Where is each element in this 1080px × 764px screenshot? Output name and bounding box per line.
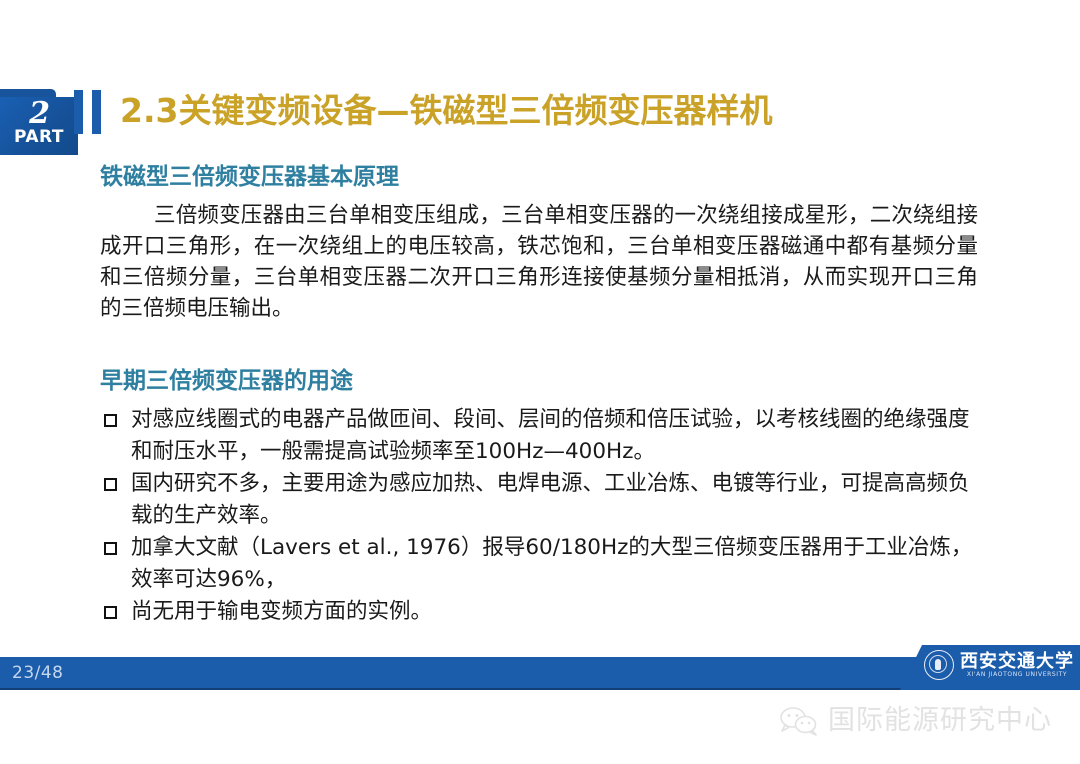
page-title: 2.3关键变频设备—铁磁型三倍频变压器样机 [120,86,772,136]
list-item: 国内研究不多，主要用途为感应加热、电焊电源、工业冶炼、电镀等行业，可提高高频负载… [100,468,990,531]
wechat-icon [779,705,819,737]
list-item: 对感应线圈式的电器产品做匝间、段间、层间的倍频和倍压试验，以考核线圈的绝缘强度和… [100,404,990,467]
list-item: 尚无用于输电变频方面的实例。 [100,596,990,628]
title-accent-bar-1 [74,90,83,134]
applications-bullet-list: 对感应线圈式的电器产品做匝间、段间、层间的倍频和倍压试验，以考核线圈的绝缘强度和… [100,404,990,628]
university-seal-icon [924,650,954,680]
watermark-text: 国际能源研究中心 [828,704,1052,738]
slide-content: 铁磁型三倍频变压器基本原理 三倍频变压器由三台单相变压组成，三台单相变压器的一次… [100,160,1000,629]
part-badge-label: PART [0,129,78,146]
list-item-text: 尚无用于输电变频方面的实例。 [131,599,432,624]
university-name-en: XI'AN JIAOTONG UNIVERSITY [960,671,1074,679]
square-bullet-icon [104,606,117,619]
square-bullet-icon [104,414,117,427]
title-accent-bar-2 [92,90,101,134]
square-bullet-icon [104,478,117,491]
square-bullet-icon [104,542,117,555]
part-badge: 2 PART [0,89,78,155]
university-name-cn: 西安交通大学 [960,652,1074,671]
section-paragraph-principle: 三倍频变压器由三台单相变压组成，三台单相变压器的一次绕组接成星形，二次绕组接成开… [100,200,978,324]
list-item-text: 国内研究不多，主要用途为感应加热、电焊电源、工业冶炼、电镀等行业，可提高高频负载… [131,471,970,528]
page-number: 23/48 [12,663,64,683]
part-badge-number: 2 [0,99,78,129]
section-heading-principle: 铁磁型三倍频变压器基本原理 [100,160,1000,194]
list-item: 加拿大文献（Lavers et al., 1976）报导60/180Hz的大型三… [100,532,990,595]
university-logo-plate: 西安交通大学 XI'AN JIAOTONG UNIVERSITY [900,645,1080,690]
list-item-text: 对感应线圈式的电器产品做匝间、段间、层间的倍频和倍压试验，以考核线圈的绝缘强度和… [131,407,970,464]
list-item-text: 加拿大文献（Lavers et al., 1976）报导60/180Hz的大型三… [131,535,972,592]
section-heading-applications: 早期三倍频变压器的用途 [100,364,1000,398]
slide-canvas: 2 PART 2.3关键变频设备—铁磁型三倍频变压器样机 铁磁型三倍频变压器基本… [0,0,1080,690]
watermark-strip: 国际能源研究中心 [0,690,1080,764]
